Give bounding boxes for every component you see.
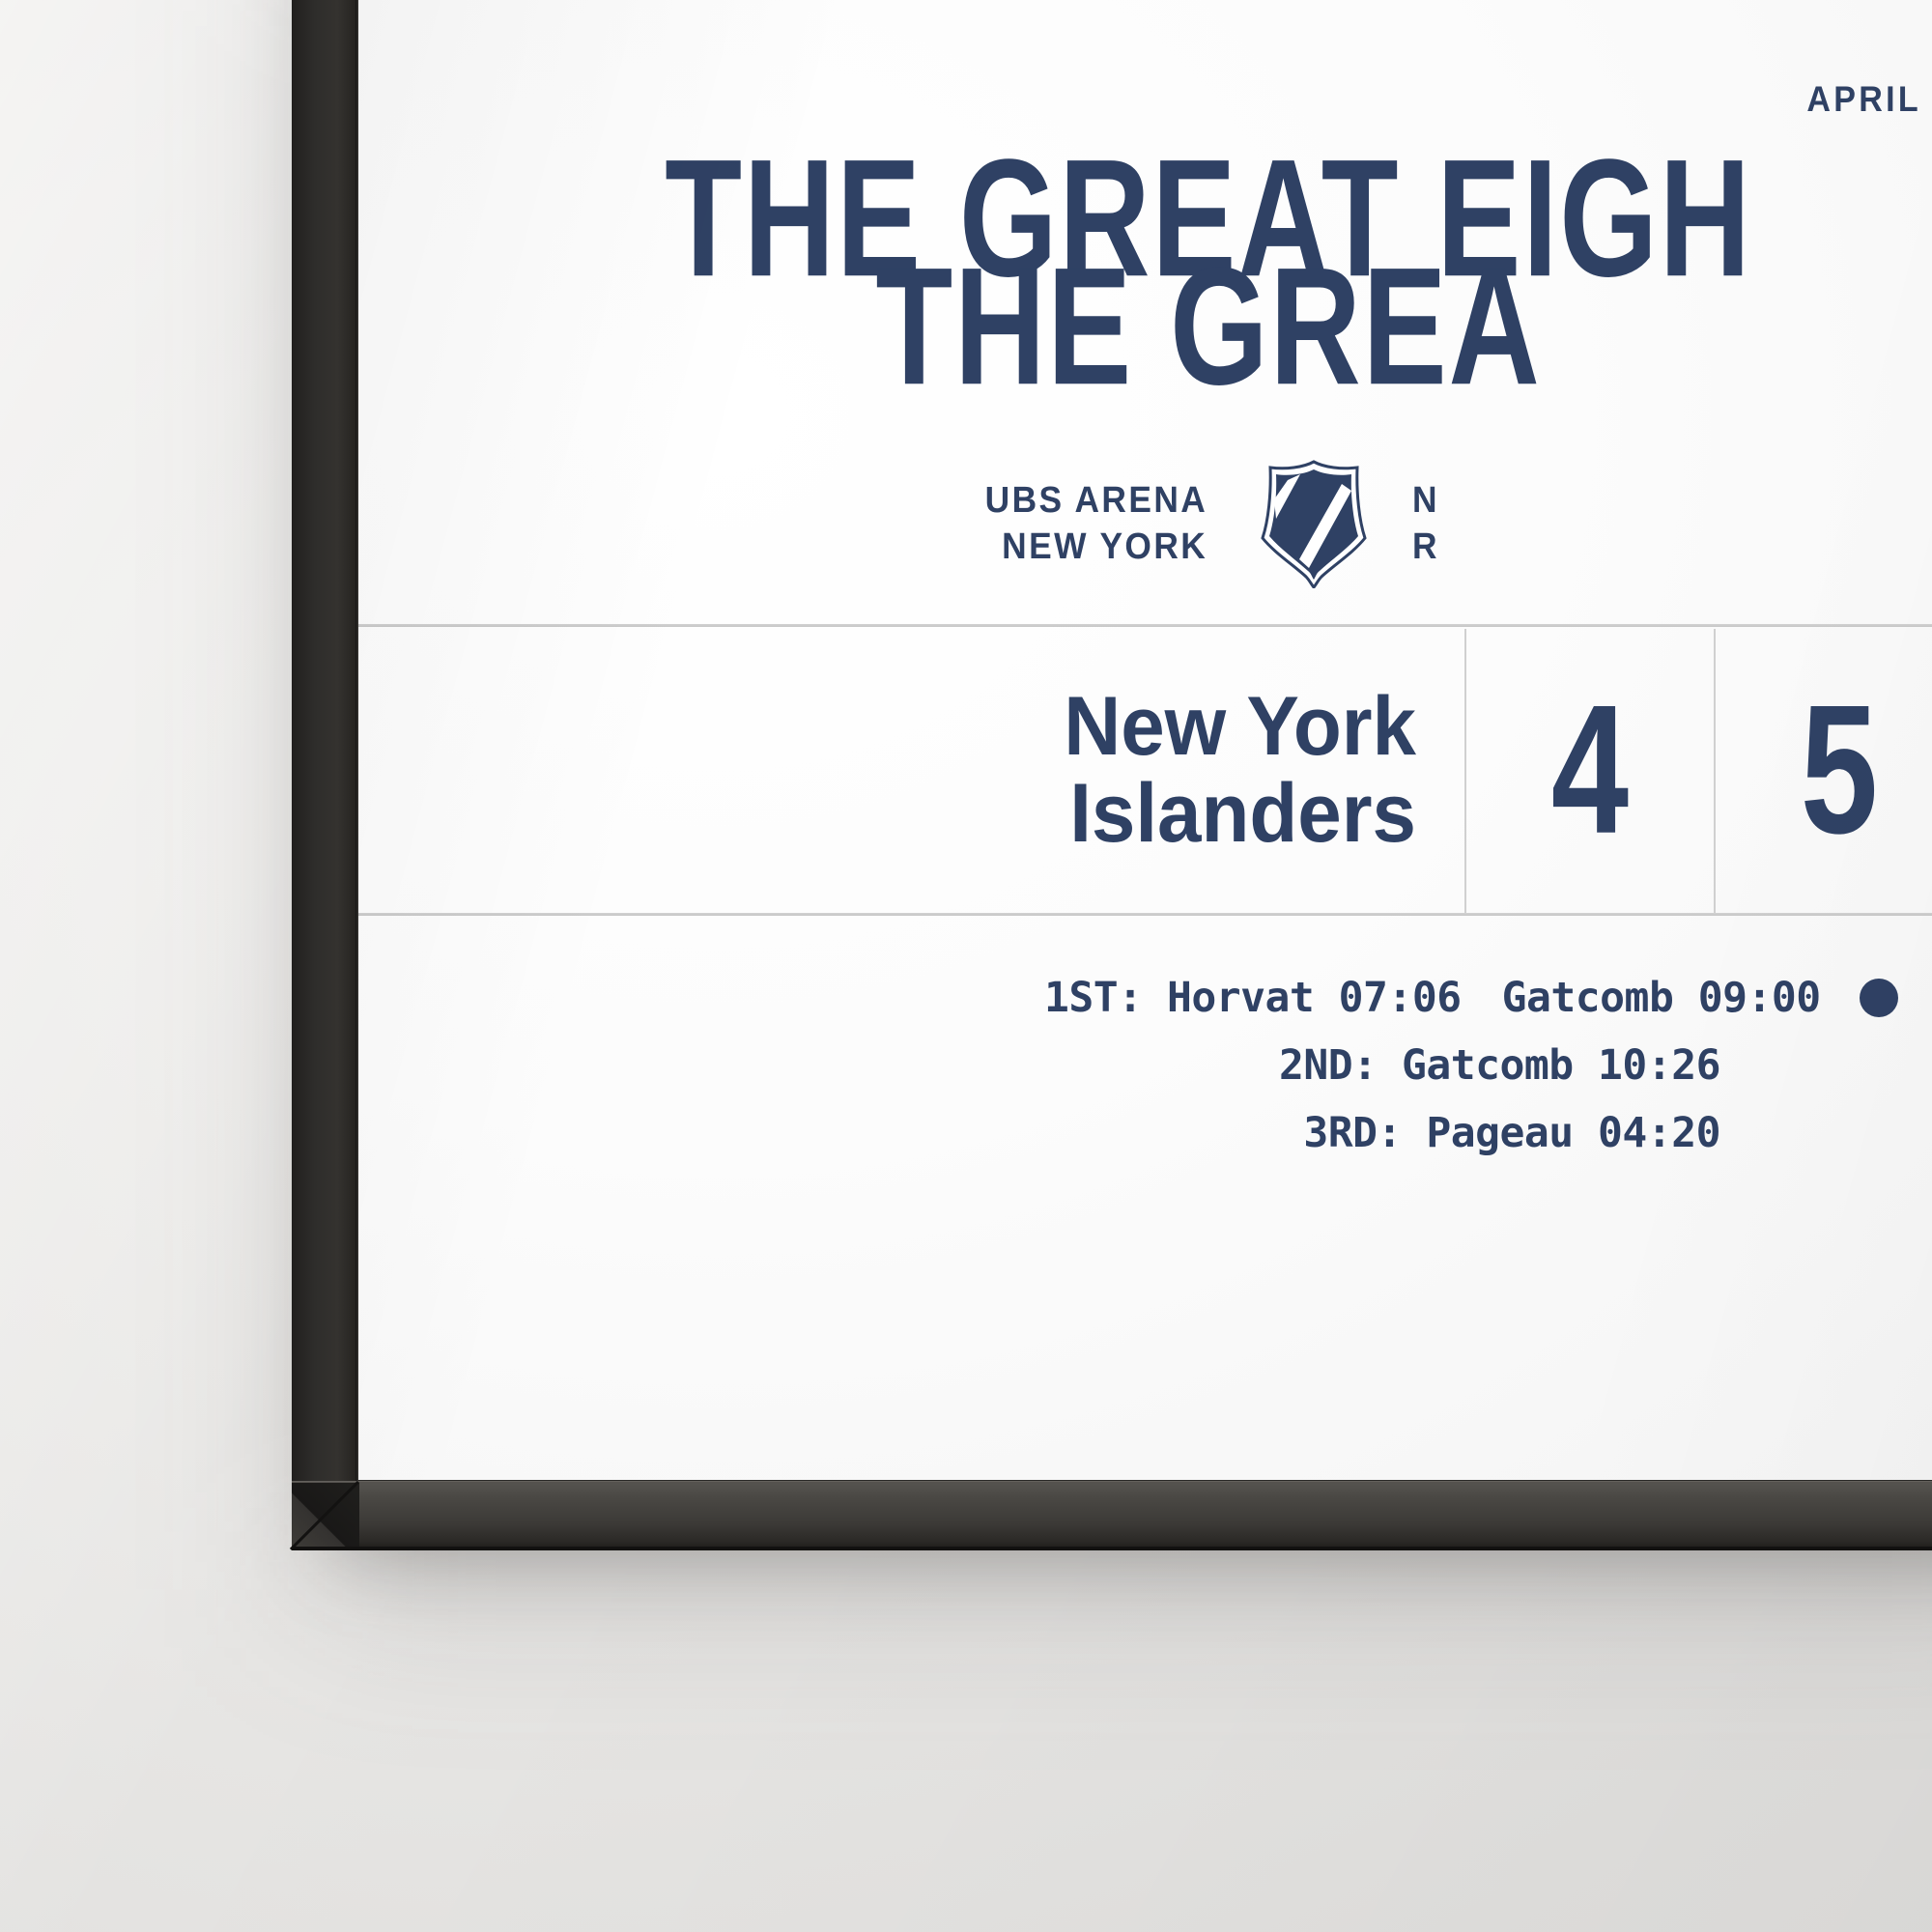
scoring-summary: 1ST: Horvat 07:06 Gatcomb 09:00 2 2ND: G…	[358, 964, 1932, 1167]
home-venue-line-2: NEW YORK	[985, 524, 1208, 570]
divider-rule-bottom	[358, 913, 1932, 916]
away-venue-line-1: N	[1412, 477, 1439, 524]
away-score-cell: 5	[1716, 627, 1932, 913]
summary-row-second-period: 2ND: Gatcomb 10:26	[358, 1032, 1720, 1099]
venue-and-logo-row: UBS ARENA NEW YORK N R	[358, 459, 1932, 588]
nhl-shield-icon	[1253, 459, 1375, 588]
away-venue-block: N R	[1412, 477, 1439, 570]
summary-home-1st-b: Gatcomb 09:00	[1502, 964, 1821, 1032]
poster-headline: THE GREAT EIGH THE GREA	[358, 164, 1932, 381]
poster-artwork: APRIL 6, 202 THE GREAT EIGH THE GREA UBS…	[358, 0, 1932, 1480]
game-date: APRIL 6, 202	[1807, 79, 1932, 120]
home-score-cell: 4	[1466, 627, 1714, 913]
game-date-row: APRIL 6, 202	[358, 79, 1932, 120]
home-team-name-line-2: Islanders	[1069, 767, 1416, 860]
summary-home-3rd: 3RD: Pageau 04:20	[1303, 1109, 1720, 1157]
away-venue-line-2: R	[1412, 524, 1439, 570]
away-score: 5	[1801, 678, 1878, 862]
frame-mitre-corner	[292, 1483, 359, 1550]
home-venue-block: UBS ARENA NEW YORK	[985, 477, 1208, 570]
summary-row-first-period: 1ST: Horvat 07:06 Gatcomb 09:00 2	[358, 964, 1932, 1032]
headline-line-2: THE GREA	[477, 265, 1932, 388]
summary-row-third-period: 3RD: Pageau 04:20	[358, 1099, 1720, 1167]
home-team-name-line-1: New York	[1064, 680, 1416, 773]
home-team-cell: New York Islanders	[358, 627, 1464, 913]
scoreboard-row: New York Islanders 4 5	[358, 627, 1932, 913]
frame-mitre-joint-line	[290, 1481, 359, 1550]
home-venue-line-1: UBS ARENA	[985, 477, 1208, 524]
summary-home-1st: 1ST: Horvat 07:06	[1044, 964, 1462, 1032]
home-team-name: New York Islanders	[1064, 683, 1416, 857]
frame-bottom-shadow-edge	[292, 1547, 1932, 1550]
frame-bottom-moulding	[292, 1483, 1932, 1550]
frame-left-inner-edge	[355, 0, 358, 1550]
home-score: 4	[1551, 678, 1629, 862]
summary-home-2nd: 2ND: Gatcomb 10:26	[1279, 1041, 1720, 1090]
frame-left-moulding	[292, 0, 357, 1550]
dot-separator-icon	[1860, 979, 1898, 1017]
picture-frame: APRIL 6, 202 THE GREAT EIGH THE GREA UBS…	[292, 0, 1932, 1550]
